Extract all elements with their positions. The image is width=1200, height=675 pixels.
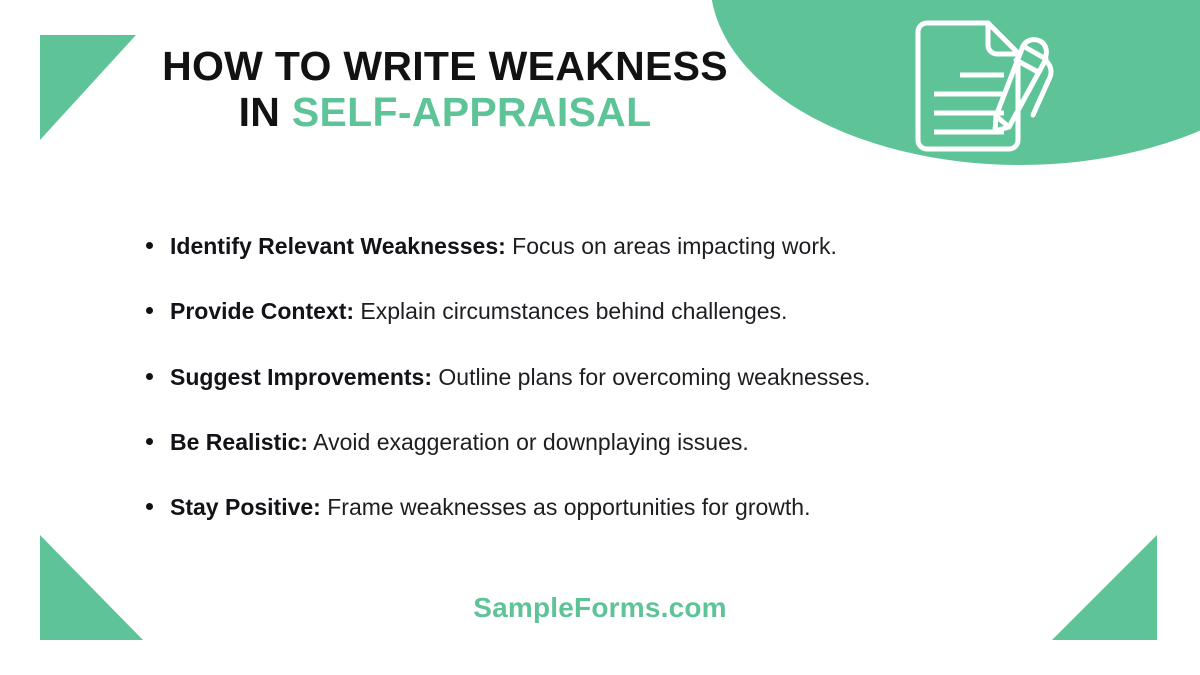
list-item: Be Realistic: Avoid exaggeration or down… <box>140 424 1100 461</box>
triangle-bottom-left-decoration <box>40 535 143 640</box>
title-line-2-prefix: IN <box>239 89 292 135</box>
list-item: Stay Positive: Frame weaknesses as oppor… <box>140 489 1100 526</box>
list-item-lead: Suggest Improvements: <box>170 364 432 390</box>
title-line-2-accent: SELF-APPRAISAL <box>292 89 652 135</box>
bullet-dot-icon <box>146 307 153 314</box>
brand-footer: SampleForms.com <box>0 592 1200 624</box>
list-item-body: Focus on areas impacting work. <box>506 233 837 259</box>
page-title: HOW TO WRITE WEAKNESS IN SELF-APPRAISAL <box>0 44 890 136</box>
list-item-body: Outline plans for overcoming weaknesses. <box>432 364 871 390</box>
list-item: Suggest Improvements: Outline plans for … <box>140 359 1100 396</box>
list-item: Identify Relevant Weaknesses: Focus on a… <box>140 228 1100 265</box>
document-with-pencil-icon <box>900 18 1060 154</box>
bullet-dot-icon <box>146 373 153 380</box>
list-item-lead: Provide Context: <box>170 298 354 324</box>
triangle-bottom-right-decoration <box>1052 535 1157 640</box>
title-line-1: HOW TO WRITE WEAKNESS <box>0 44 890 90</box>
bullet-dot-icon <box>146 438 153 445</box>
list-item-body: Explain circumstances behind challenges. <box>354 298 787 324</box>
tips-list: Identify Relevant Weaknesses: Focus on a… <box>140 228 1100 526</box>
list-item-lead: Stay Positive: <box>170 494 321 520</box>
infographic-canvas: HOW TO WRITE WEAKNESS IN SELF-APPRAISAL … <box>0 0 1200 675</box>
list-item-lead: Be Realistic: <box>170 429 308 455</box>
list-item-lead: Identify Relevant Weaknesses: <box>170 233 506 259</box>
list-item: Provide Context: Explain circumstances b… <box>140 293 1100 330</box>
bullet-dot-icon <box>146 242 153 249</box>
list-item-body: Frame weaknesses as opportunities for gr… <box>321 494 811 520</box>
title-line-2: IN SELF-APPRAISAL <box>0 90 890 136</box>
bullet-dot-icon <box>146 503 153 510</box>
list-item-body: Avoid exaggeration or downplaying issues… <box>308 429 749 455</box>
